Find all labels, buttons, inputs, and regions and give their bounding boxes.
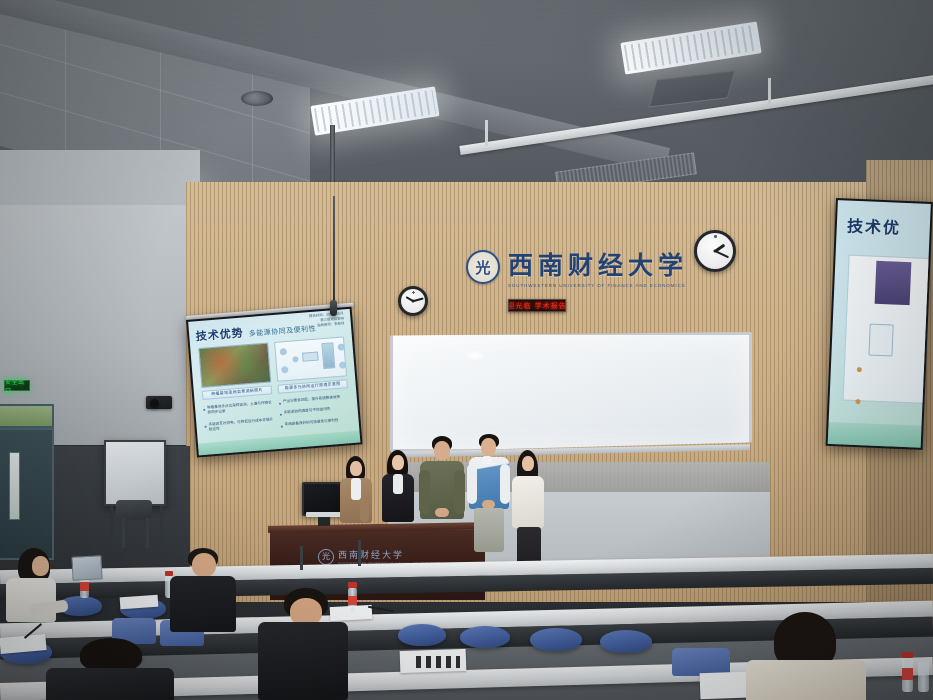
- audience-mid-man-head: [192, 553, 216, 577]
- main-slide-subtitle: 多能源协同及便利性: [248, 323, 316, 338]
- university-wall-sign: 光 西南财经大学 SOUTHWESTERN UNIVERSITY OF FINA…: [466, 246, 688, 288]
- presenter-2-head: [392, 455, 404, 470]
- seat-5[interactable]: [530, 628, 582, 651]
- audience-left-woman-head: [32, 556, 49, 576]
- ceiling-vent-round-1: [241, 91, 273, 106]
- audience-left-woman-torso: [6, 578, 56, 622]
- presenter-4-collar: [482, 456, 492, 464]
- exit-sign: 安全出口: [4, 380, 30, 391]
- projector-mount-rod: [330, 125, 335, 185]
- podium-name-cn: 西南财经大学: [338, 548, 441, 561]
- wall-clock-right: [694, 230, 736, 272]
- audience-near-man: [46, 638, 178, 700]
- bullet-dot-icon: [203, 409, 205, 411]
- slide-left-bullet-1: 种植基地多点位采样监测，土壤与作物长势同步记录: [203, 400, 274, 416]
- presenter-2: [378, 450, 418, 536]
- slide-right-bullet-3: 系统具备良好的可拓展性与便利性: [281, 417, 351, 428]
- wall-whiteboard[interactable]: [390, 332, 752, 452]
- presenter-1-head: [350, 461, 362, 476]
- slide-field-photo: [198, 342, 271, 387]
- presenter-4: [466, 434, 512, 552]
- rail-hanger-1: [485, 120, 488, 146]
- audience-mid-man: [170, 548, 240, 632]
- side-screen-bottom-band: [828, 422, 922, 448]
- slide-left-caption: 种植基地现场实景调研照片: [211, 387, 263, 397]
- door-transom-window: [0, 404, 54, 428]
- audience-near-man-hair: [80, 638, 142, 672]
- rolling-whiteboard[interactable]: [104, 440, 166, 506]
- presenter-3-hands: [435, 508, 449, 517]
- seat-3[interactable]: [398, 624, 446, 646]
- audience-mid-man-torso: [170, 576, 236, 632]
- presenter-4-head: [481, 438, 496, 456]
- rolling-whiteboard-leg-left: [110, 506, 113, 546]
- side-projection-screen: 技术优: [826, 198, 933, 450]
- door-vision-panel: [9, 452, 20, 520]
- slide-left-caption-bar: 种植基地现场实景调研照片: [202, 385, 272, 400]
- hanging-microphone: [330, 300, 337, 316]
- presenter-3-arm-left: [419, 470, 430, 514]
- presenter-1-arm: [360, 496, 369, 522]
- audience-front-man-torso: [258, 622, 348, 700]
- audience-front-man: [258, 588, 352, 700]
- ceiling-vent-rect: [649, 70, 736, 107]
- wall-clock-left: [398, 286, 428, 316]
- slide-right-bullet-1: 产出与需求匹配，提升系统整体效率: [279, 394, 349, 405]
- podium-emblem-icon: 光: [318, 549, 334, 565]
- audience-near-man-torso: [46, 668, 174, 700]
- bullet-dot-icon: [279, 402, 281, 404]
- seat-4[interactable]: [460, 626, 510, 648]
- university-emblem-icon: 光: [466, 250, 500, 284]
- audience-laptop[interactable]: [71, 555, 102, 581]
- slide-right-bullet-2: 多能源协同调度可平抑波动性: [280, 405, 350, 416]
- chair-leg-back-1: [300, 546, 303, 570]
- water-bottle-6: [918, 662, 929, 692]
- university-name-cn: 西南财经大学: [508, 246, 688, 282]
- classroom-door[interactable]: [0, 428, 54, 560]
- bullet-dot-icon: [205, 425, 207, 427]
- university-name-en: SOUTHWESTERN UNIVERSITY OF FINANCE AND E…: [508, 283, 688, 288]
- presenter-3-arm-right: [454, 470, 465, 514]
- slide-right-caption: 能源多元协同运行原理示意图: [285, 381, 341, 391]
- slide-energy-diagram: [274, 336, 347, 381]
- seat-6[interactable]: [600, 630, 652, 653]
- slide-right-caption-bar: 能源多元协同运行原理示意图: [277, 379, 347, 394]
- main-slide-right-column: 能源多元协同运行原理示意图 产出与需求匹配，提升系统整体效率 多能源协同调度可平…: [274, 336, 351, 435]
- side-screen-surface: 技术优: [828, 200, 931, 448]
- side-slide-title: 技术优: [847, 217, 902, 238]
- presenter-5-head: [522, 456, 534, 471]
- rolling-whiteboard-leg-right: [160, 506, 163, 546]
- hanging-microphone-cable: [333, 196, 335, 304]
- water-bottle-5-cap: [902, 652, 913, 658]
- side-chair-leg-2: [146, 518, 149, 548]
- podium-monitor-stand: [318, 516, 330, 526]
- paper-chart-thumbnail: [416, 656, 460, 668]
- main-slide-title: 技术优势: [195, 324, 244, 344]
- main-projection-screen: 报告时间：2024年5月 第三组项目答辩 指导教师：李老师 技术优势 多能源协同…: [186, 307, 363, 458]
- side-chair-leg-1: [122, 518, 125, 548]
- presenter-4-arm-left: [467, 464, 477, 504]
- bullet-dot-icon: [281, 425, 283, 427]
- wall-camera-lens-icon: [150, 399, 159, 408]
- presenter-1: [336, 456, 376, 536]
- water-bottle-1-label: [80, 582, 89, 591]
- audience-right-woman: [746, 612, 870, 700]
- side-chair[interactable]: [116, 500, 152, 520]
- bullet-dot-icon: [280, 414, 282, 416]
- lecture-hall-scene: 光 西南财经大学 SOUTHWESTERN UNIVERSITY OF FINA…: [0, 0, 933, 700]
- presenter-1-shirt: [351, 478, 361, 500]
- rail-hanger-2: [768, 78, 771, 104]
- main-slide-body: 种植基地现场实景调研照片 种植基地多点位采样监测，土壤与作物长势同步记录 多能源…: [198, 336, 351, 441]
- led-sign-text: 欢迎光临 学术报告厅: [508, 301, 566, 311]
- slide-left-bullet-2: 多能源互补供电，可降低运行成本并提升稳定性: [204, 417, 275, 433]
- presenter-2-shirt: [393, 474, 403, 494]
- presenter-5-torso: [512, 476, 544, 528]
- main-screen-surface: 报告时间：2024年5月 第三组项目答辩 指导教师：李老师 技术优势 多能源协同…: [188, 309, 360, 456]
- exit-sign-text: 安全出口: [5, 377, 29, 395]
- audience-left-woman: [6, 548, 68, 624]
- presenter-4-legs: [474, 508, 504, 552]
- chair-leg-back-2: [358, 540, 361, 566]
- water-bottle-5-label: [902, 668, 913, 680]
- audience-right-woman-torso: [746, 660, 866, 700]
- presenter-3: [418, 436, 466, 536]
- presenter-3-head: [434, 441, 450, 460]
- main-slide-left-column: 种植基地现场实景调研照片 种植基地多点位采样监测，土壤与作物长势同步记录 多能源…: [198, 342, 275, 441]
- led-scrolling-sign: 欢迎光临 学术报告厅: [508, 299, 566, 312]
- ceiling-light-2: [620, 21, 761, 74]
